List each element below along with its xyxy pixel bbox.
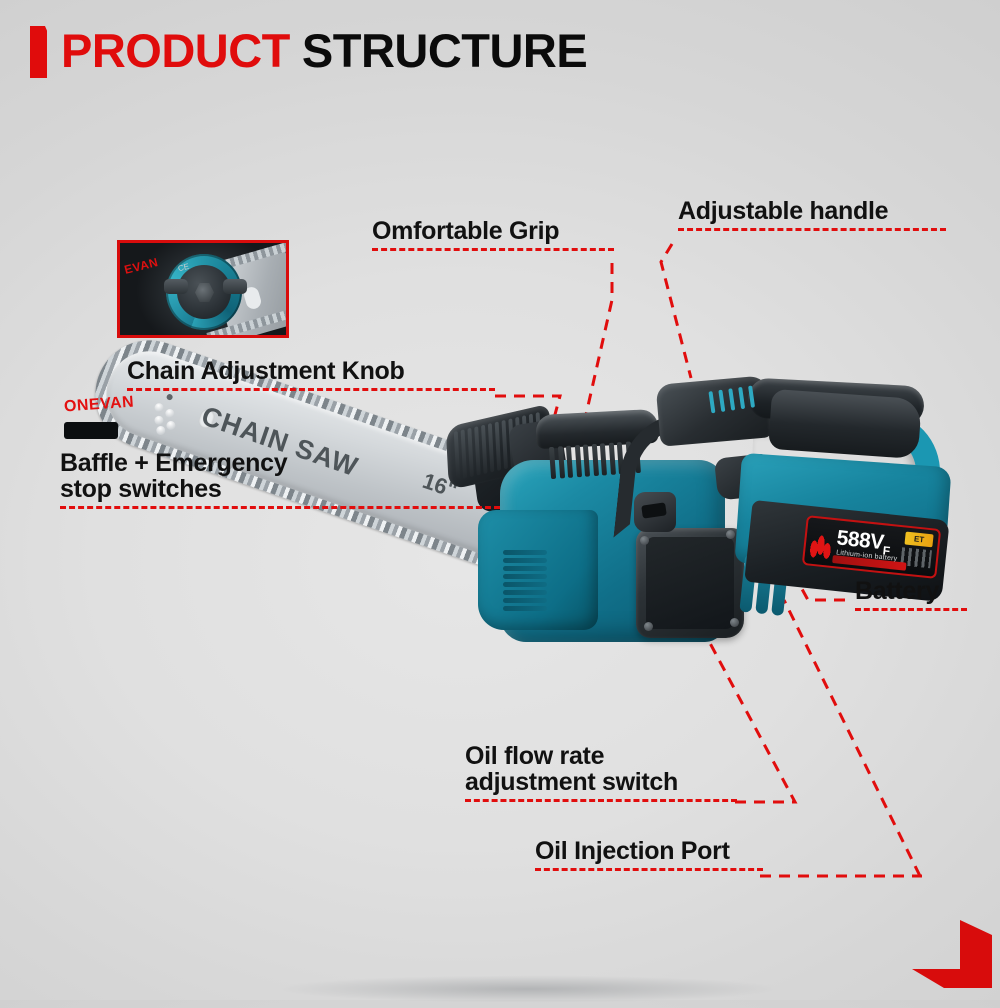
title-word-product: PRODUCT [61,26,290,76]
page-title: PRODUCT STRUCTURE [30,26,587,78]
callout-label-oil-injection-port: Oil Injection Port [535,838,763,864]
callout-chain-adjustment-knob: Chain Adjustment Knob [127,358,495,391]
battery-certification-badge: ET [904,532,933,548]
corner-arrow-icon [912,920,992,988]
callout-rule-comfortable-grip [372,248,614,251]
callout-label-oil-flow-rate: Oil flow rate adjustment switch [465,743,737,795]
callout-adjustable-handle: Adjustable handle [678,198,946,231]
callout-label-chain-adjustment-knob: Chain Adjustment Knob [127,358,495,384]
housing-vents [503,550,549,614]
callout-comfortable-grip: Omfortable Grip [372,218,614,251]
callout-rule-chain-adjustment-knob [127,388,495,391]
leader-adjustable-handle [661,244,691,378]
inset-closeup-chain-adjustment-knob: EVAN CE [117,240,289,338]
inset-knob-wing-left [164,279,188,294]
brand-panel-inner [646,537,734,629]
callout-rule-battery [855,608,967,611]
callout-label-adjustable-handle: Adjustable handle [678,198,946,224]
screw-bottom-right [730,618,739,627]
title-word-structure: STRUCTURE [302,26,587,76]
screw-bottom-left [644,622,653,631]
callout-label-battery: Battery [855,578,967,604]
callout-label-baffle-emergency: Baffle + Emergency stop switches [60,450,500,502]
callout-baffle-emergency: Baffle + Emergency stop switches [60,450,500,509]
rear-handle-grip[interactable] [768,389,922,459]
callout-battery: Battery [855,578,967,611]
product-shadow [178,970,878,1008]
callout-rule-oil-injection-port [535,868,763,871]
callout-rule-baffle-emergency [60,506,500,509]
callout-label-comfortable-grip: Omfortable Grip [372,218,614,244]
guide-bar-pin-hole [166,393,174,401]
callout-rule-oil-flow-rate [465,799,737,802]
oil-injection-port[interactable] [64,422,118,439]
flame-icon [809,528,834,560]
callout-oil-injection-port: Oil Injection Port [535,838,763,871]
callout-oil-flow-rate: Oil flow rate adjustment switch [465,743,737,802]
inset-knob-wing-right [223,279,247,294]
guide-bar-rivets [148,402,185,436]
title-accent-bar [30,26,47,78]
callout-rule-adjustable-handle [678,228,946,231]
